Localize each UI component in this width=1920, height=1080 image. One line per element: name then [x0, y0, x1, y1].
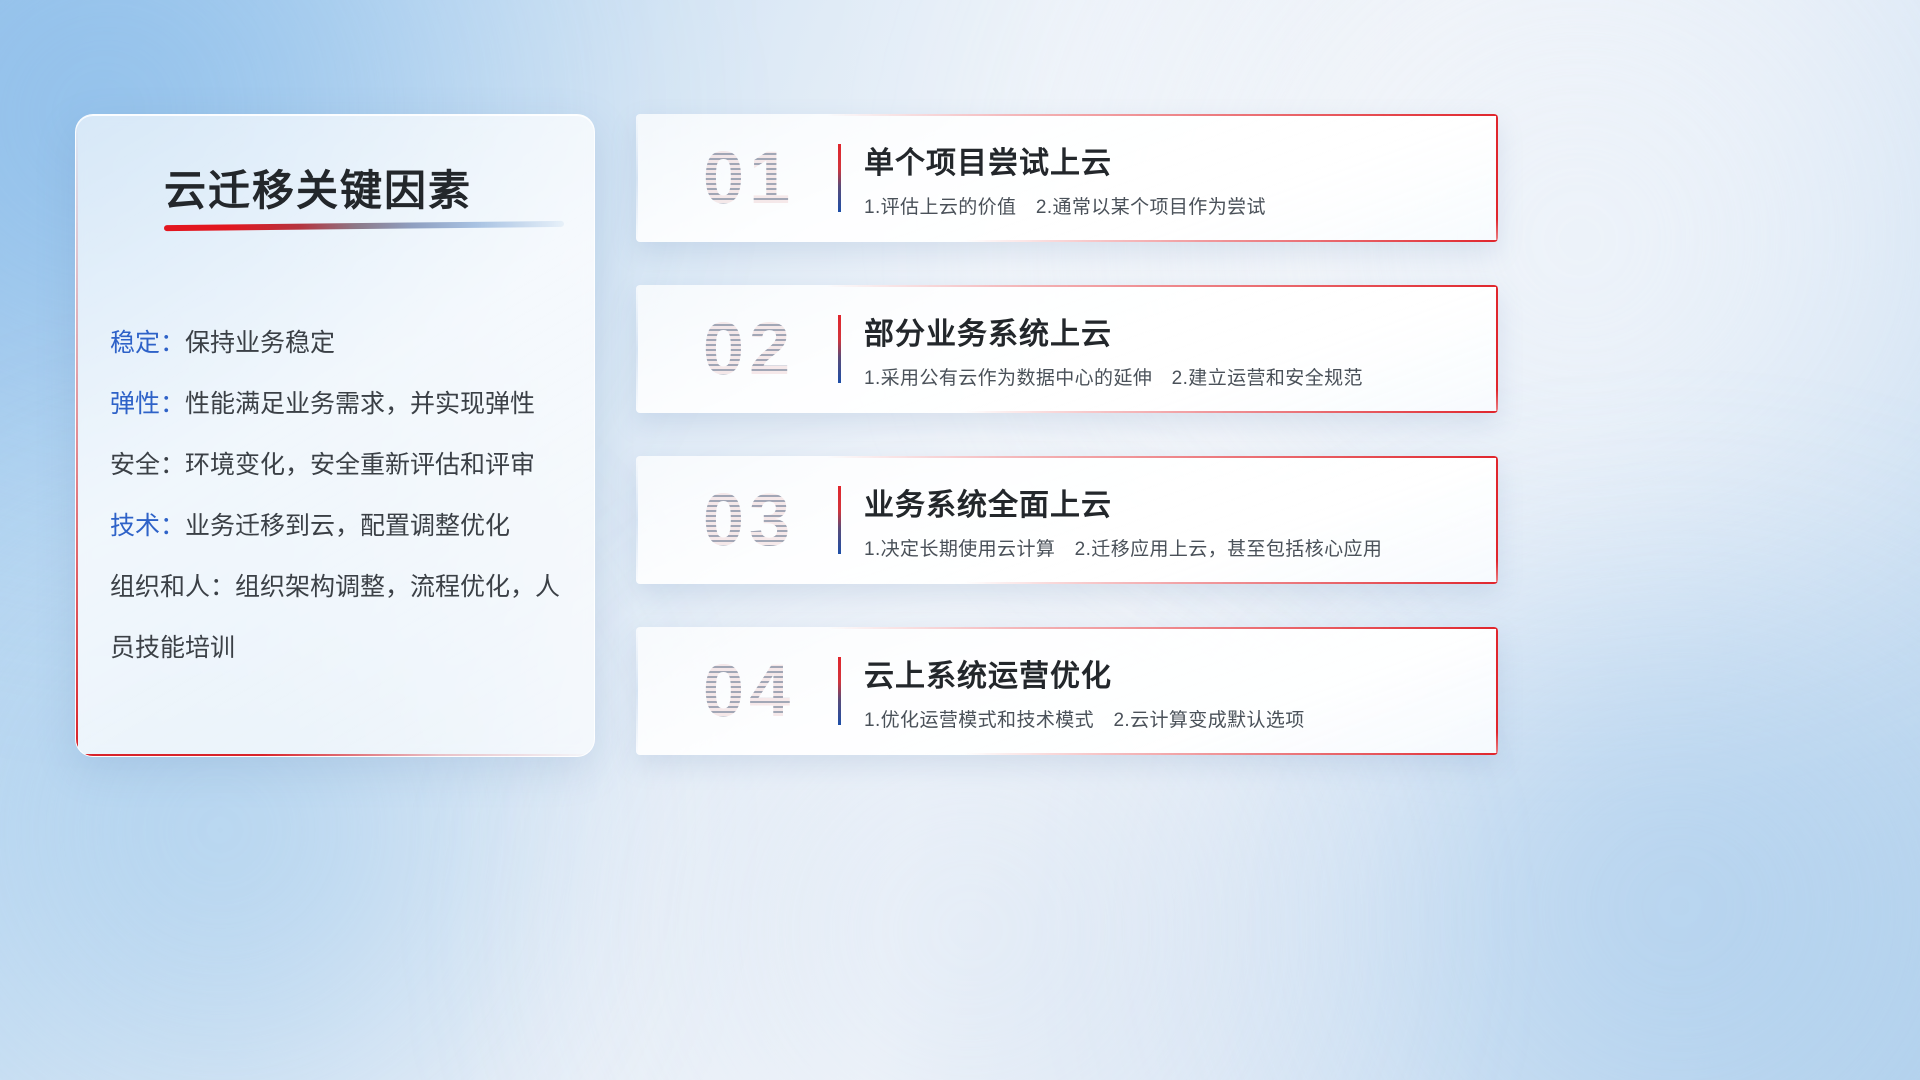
- card-edge-bottom: [964, 411, 1498, 413]
- step-number: 04: [664, 641, 834, 741]
- card-edge-top: [826, 456, 1498, 458]
- step-description: 1.决定长期使用云计算 2.迁移应用上云，甚至包括核心应用: [864, 534, 1382, 561]
- card-edge-right: [1496, 627, 1498, 755]
- factor-list: 稳定：保持业务稳定弹性：性能满足业务需求，并实现弹性安全：环境变化，安全重新评估…: [110, 313, 572, 679]
- factor-key: 技术：: [110, 512, 185, 540]
- factor-row: 稳定：保持业务稳定: [110, 313, 572, 374]
- card-edge-left: [636, 627, 638, 755]
- factor-key: 弹性：: [110, 390, 185, 418]
- step-card[interactable]: 0202部分业务系统上云1.采用公有云作为数据中心的延伸 2.建立运营和安全规范: [636, 285, 1498, 413]
- factor-key: 组织和人：: [110, 573, 235, 601]
- key-factors-panel: 云迁移关键因素 稳定：保持业务稳定弹性：性能满足业务需求，并实现弹性安全：环境变…: [75, 114, 595, 757]
- card-edge-top: [826, 285, 1498, 287]
- card-edge-left: [636, 114, 638, 242]
- step-card[interactable]: 0404云上系统运营优化1.优化运营模式和技术模式 2.云计算变成默认选项: [636, 627, 1498, 755]
- factor-text: 环境变化，安全重新评估和评审: [185, 451, 535, 479]
- step-divider-bar: [838, 144, 841, 212]
- step-number: 02: [664, 299, 834, 399]
- factor-text: 保持业务稳定: [185, 329, 335, 357]
- step-number: 03: [664, 470, 834, 570]
- card-edge-right: [1496, 285, 1498, 413]
- card-edge-right: [1496, 456, 1498, 584]
- card-edge-left: [636, 456, 638, 584]
- card-edge-left: [636, 285, 638, 413]
- step-divider-bar: [838, 486, 841, 554]
- step-divider-bar: [838, 657, 841, 725]
- slide-stage: 云迁移关键因素 稳定：保持业务稳定弹性：性能满足业务需求，并实现弹性安全：环境变…: [0, 0, 1920, 1080]
- step-description: 1.优化运营模式和技术模式 2.云计算变成默认选项: [864, 705, 1305, 732]
- step-description: 1.采用公有云作为数据中心的延伸 2.建立运营和安全规范: [864, 363, 1363, 390]
- step-title: 单个项目尝试上云: [864, 138, 1112, 182]
- factor-key: 稳定：: [110, 329, 185, 357]
- step-divider-bar: [838, 315, 841, 383]
- factor-text: 业务迁移到云，配置调整优化: [185, 512, 510, 540]
- card-edge-top: [826, 627, 1498, 629]
- factor-row: 安全：环境变化，安全重新评估和评审: [110, 435, 572, 496]
- factor-row: 组织和人：组织架构调整，流程优化，人员技能培训: [110, 557, 572, 679]
- factor-row: 弹性：性能满足业务需求，并实现弹性: [110, 374, 572, 435]
- step-title: 业务系统全面上云: [864, 480, 1112, 524]
- card-edge-bottom: [964, 582, 1498, 584]
- title-underline-rule: [164, 221, 564, 231]
- factor-key: 安全：: [110, 451, 185, 479]
- card-edge-bottom: [964, 753, 1498, 755]
- card-edge-top: [826, 114, 1498, 116]
- step-title: 部分业务系统上云: [864, 309, 1112, 353]
- factor-row: 技术：业务迁移到云，配置调整优化: [110, 496, 572, 557]
- card-edge-bottom: [964, 240, 1498, 242]
- step-description: 1.评估上云的价值 2.通常以某个项目作为尝试: [864, 192, 1266, 219]
- step-card[interactable]: 0101单个项目尝试上云1.评估上云的价值 2.通常以某个项目作为尝试: [636, 114, 1498, 242]
- step-title: 云上系统运营优化: [864, 651, 1112, 695]
- panel-title: 云迁移关键因素: [164, 157, 472, 218]
- factor-text: 性能满足业务需求，并实现弹性: [185, 390, 535, 418]
- step-number: 01: [664, 128, 834, 228]
- card-edge-right: [1496, 114, 1498, 242]
- step-card[interactable]: 0303业务系统全面上云1.决定长期使用云计算 2.迁移应用上云，甚至包括核心应…: [636, 456, 1498, 584]
